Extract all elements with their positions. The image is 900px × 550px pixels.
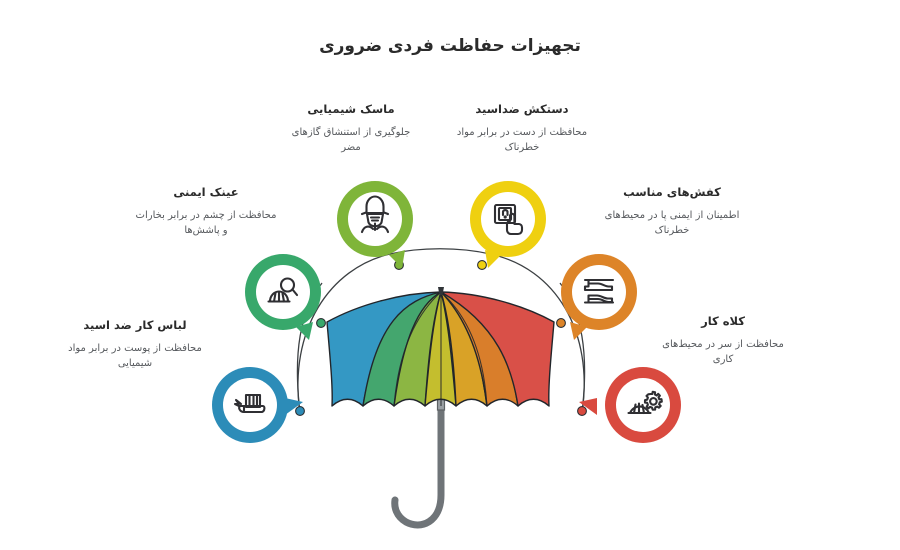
caption-mask-desc: جلوگیری از استنشاق گازهای مضر: [281, 125, 421, 156]
caption-suit-title: لباس کار ضد اسید: [64, 318, 206, 334]
dot-shoes: [557, 319, 566, 328]
caption-helmet: کلاه کار محافظت از سر در محیط‌های کاری: [652, 314, 794, 368]
caption-goggle: عینک ایمنی محافظت از چشم در برابر بخارات…: [135, 185, 277, 239]
rainbow-umbrella: [327, 287, 554, 525]
caption-helmet-title: کلاه کار: [652, 314, 794, 330]
caption-helmet-desc: محافظت از سر در محیط‌های کاری: [652, 337, 794, 368]
bubble-shoes[interactable]: [561, 254, 637, 340]
caption-goggle-title: عینک ایمنی: [135, 185, 277, 201]
caption-goggle-desc: محافظت از چشم در برابر بخارات و پاشش‌ها: [135, 208, 277, 239]
caption-glove-desc: محافظت از دست در برابر مواد خطرناک: [452, 125, 592, 156]
caption-shoes-desc: اطمینان از ایمنی پا در محیط‌های خطرناک: [592, 208, 752, 239]
caption-shoes: کفش‌های مناسب اطمینان از ایمنی پا در محی…: [592, 185, 752, 239]
caption-glove: دستکش ضداسید محافظت از دست در برابر مواد…: [452, 102, 592, 156]
bubble-goggle[interactable]: [245, 254, 321, 340]
bubble-mask[interactable]: [337, 181, 413, 268]
infographic-artwork: [0, 0, 900, 550]
infographic-canvas: تجهیزات حفاظت فردی ضروری: [0, 0, 900, 550]
caption-mask-title: ماسک شیمیایی: [281, 102, 421, 118]
caption-suit: لباس کار ضد اسید محافظت از پوست در برابر…: [64, 318, 206, 372]
dot-helmet: [578, 407, 587, 416]
caption-suit-desc: محافظت از پوست در برابر مواد شیمیایی: [64, 341, 206, 372]
bubble-glove[interactable]: [470, 181, 546, 268]
bubble-suit[interactable]: [212, 367, 303, 443]
caption-glove-title: دستکش ضداسید: [452, 102, 592, 118]
bubble-helmet[interactable]: [579, 367, 681, 443]
caption-mask: ماسک شیمیایی جلوگیری از استنشاق گازهای م…: [281, 102, 421, 156]
dot-goggle: [317, 319, 326, 328]
caption-shoes-title: کفش‌های مناسب: [592, 185, 752, 201]
dot-glove: [478, 261, 487, 270]
dot-suit: [296, 407, 305, 416]
